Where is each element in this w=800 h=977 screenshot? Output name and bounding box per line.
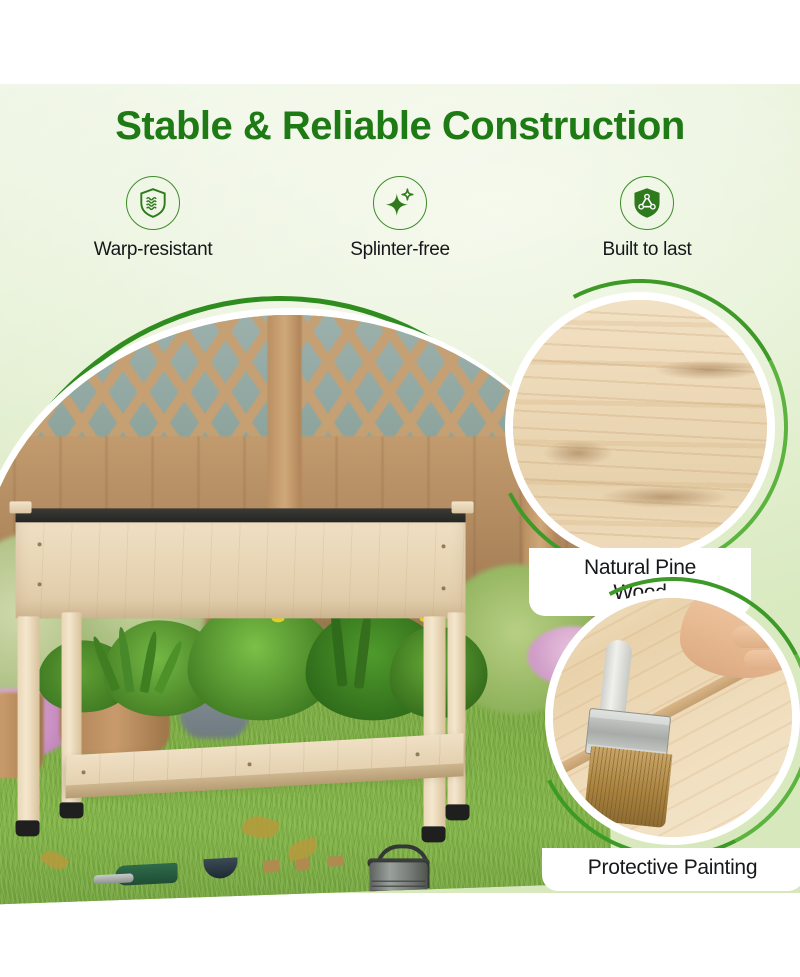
feature-label: Splinter-free	[350, 239, 450, 261]
feature-item-warp-resistant: Warp-resistant	[38, 176, 268, 261]
finger	[732, 626, 796, 648]
page-title: Stable & Reliable Construction	[0, 104, 800, 149]
wood-surface-texture	[545, 590, 800, 845]
planter-leg	[424, 616, 446, 832]
callout-image-painting	[545, 590, 800, 845]
screw	[416, 752, 420, 756]
screw	[38, 542, 42, 546]
brush-bristles	[583, 746, 672, 828]
product-feature-card: Stable & Reliable Construction Warp-resi…	[0, 0, 800, 977]
callout-protective-painting: Protective Painting	[545, 590, 800, 845]
metal-bowl	[204, 857, 238, 879]
screw	[38, 582, 42, 586]
finger	[744, 650, 800, 670]
leg-foot-cap	[446, 804, 470, 820]
screw	[82, 770, 86, 774]
feature-list: Warp-resistant Splinter-free	[38, 176, 762, 261]
shield-waves-icon	[126, 176, 180, 230]
garden-tool	[296, 858, 310, 871]
feature-item-built-to-last: Built to last	[532, 176, 762, 261]
can-ribbing	[372, 880, 426, 896]
feature-label: Warp-resistant	[94, 239, 213, 261]
watering-can	[364, 836, 434, 904]
corner-cap	[452, 501, 474, 513]
corner-cap	[10, 501, 32, 513]
planter-leg	[18, 616, 40, 826]
wood-grain-swirl	[599, 486, 729, 508]
garden-tool	[328, 856, 344, 867]
screw	[442, 586, 446, 590]
wood-knot	[543, 440, 613, 466]
feature-label: Built to last	[602, 239, 691, 261]
callout-natural-pine-wood: Natural Pine Wood	[505, 292, 775, 562]
planter-box-front	[16, 522, 466, 618]
shield-triangle-nodes-icon	[620, 176, 674, 230]
screw	[442, 544, 446, 548]
brush-handle	[599, 639, 633, 719]
sparkle-icon	[373, 176, 427, 230]
callout-image-pine-grain	[505, 292, 775, 562]
screw	[248, 762, 252, 766]
garden-tool	[264, 860, 280, 873]
planter-leg	[448, 612, 466, 810]
callout-label: Protective Painting	[542, 848, 800, 891]
leg-foot-cap	[60, 802, 84, 818]
leg-foot-cap	[16, 820, 40, 836]
feature-item-splinter-free: Splinter-free	[285, 176, 515, 261]
pine-wood-texture	[505, 292, 775, 562]
wood-grain-swirl	[653, 360, 763, 380]
raised-garden-bed	[8, 508, 478, 878]
